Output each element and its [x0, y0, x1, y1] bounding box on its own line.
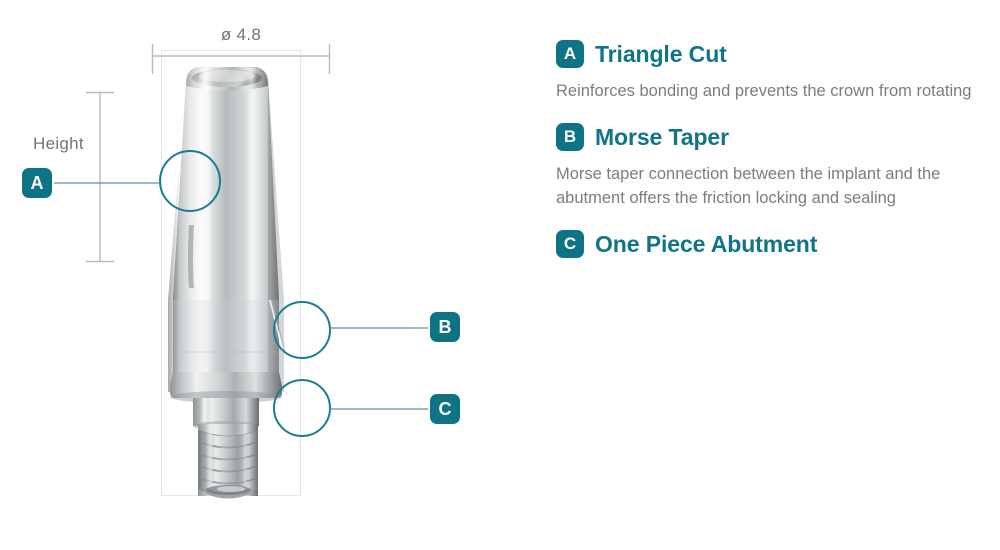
feature-body-a: Reinforces bonding and prevents the crow…: [556, 80, 994, 103]
feature-item-b: B Morse Taper Morse taper connection bet…: [556, 121, 994, 210]
feature-title-c: One Piece Abutment: [595, 231, 817, 258]
feature-item-a: A Triangle Cut Reinforces bonding and pr…: [556, 38, 994, 103]
callout-badge-a[interactable]: A: [22, 168, 52, 198]
feature-badge-c: C: [556, 230, 584, 258]
feature-title-a: Triangle Cut: [595, 41, 727, 68]
implant-diagram-panel: ø 4.8 Height A B C: [0, 0, 540, 550]
feature-badge-a: A: [556, 40, 584, 68]
feature-badge-b: B: [556, 123, 584, 151]
callout-badge-c[interactable]: C: [430, 394, 460, 424]
feature-title-b: Morse Taper: [595, 124, 729, 151]
diameter-dimension-label: ø 4.8: [152, 25, 330, 45]
feature-item-c: C One Piece Abutment: [556, 228, 994, 260]
feature-heading-b: B Morse Taper: [556, 121, 994, 153]
height-dimension-label: Height: [33, 134, 84, 154]
feature-list: A Triangle Cut Reinforces bonding and pr…: [556, 38, 994, 270]
feature-heading-a: A Triangle Cut: [556, 38, 994, 70]
callout-badge-b[interactable]: B: [430, 312, 460, 342]
feature-body-b: Morse taper connection between the impla…: [556, 163, 994, 210]
feature-heading-c: C One Piece Abutment: [556, 228, 994, 260]
implant-diagram-svg: [0, 0, 540, 550]
